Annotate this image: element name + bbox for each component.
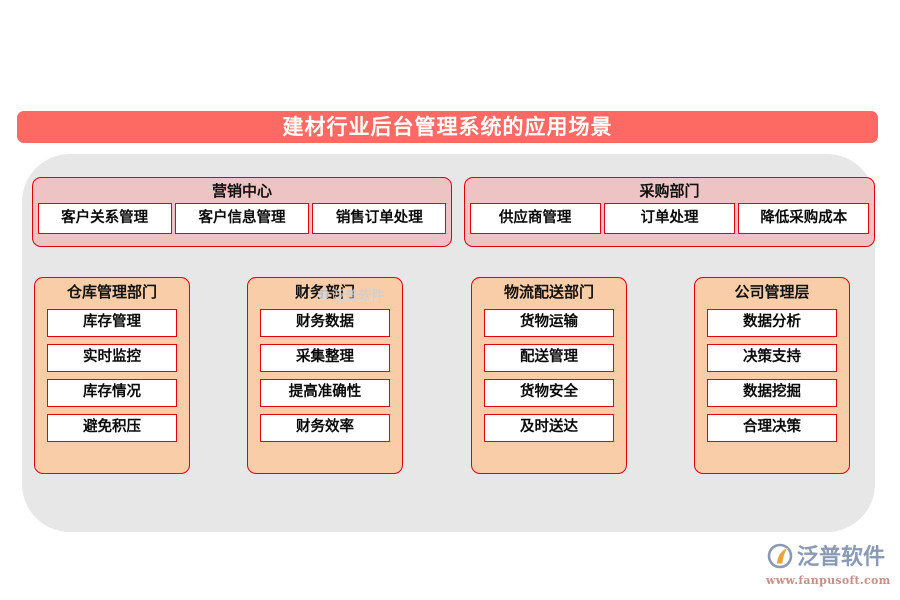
item-box[interactable]: 财务效率 (260, 414, 390, 442)
item-box[interactable]: 数据挖掘 (707, 379, 837, 407)
item-box[interactable]: 销售订单处理 (312, 203, 446, 234)
column-title-finance-department: 财务部门 (260, 282, 390, 302)
column-logistics-department: 物流配送部门 货物运输 配送管理 货物安全 及时送达 (471, 277, 627, 474)
block-marketing-center: 营销中心 客户关系管理 客户信息管理 销售订单处理 (32, 177, 452, 247)
item-box[interactable]: 采集整理 (260, 344, 390, 372)
item-box[interactable]: 客户关系管理 (38, 203, 172, 234)
item-box[interactable]: 货物安全 (484, 379, 614, 407)
column-title-logistics-department: 物流配送部门 (484, 282, 614, 302)
item-box[interactable]: 配送管理 (484, 344, 614, 372)
page-title: 建材行业后台管理系统的应用场景 (283, 117, 613, 138)
block-title-marketing-center: 营销中心 (33, 181, 451, 201)
page-title-banner: 建材行业后台管理系统的应用场景 (17, 111, 878, 143)
diagram-canvas: 建材行业后台管理系统的应用场景 营销中心 客户关系管理 客户信息管理 销售订单处… (0, 0, 900, 600)
column-title-warehouse-department: 仓库管理部门 (47, 282, 177, 302)
item-box[interactable]: 实时监控 (47, 344, 177, 372)
item-box[interactable]: 及时送达 (484, 414, 614, 442)
block-procurement-department: 采购部门 供应商管理 订单处理 降低采购成本 (464, 177, 875, 247)
item-box[interactable]: 供应商管理 (470, 203, 601, 234)
logo-row: 泛普软件 (766, 543, 892, 573)
block-items-procurement-department: 供应商管理 订单处理 降低采购成本 (465, 201, 874, 234)
item-box[interactable]: 货物运输 (484, 309, 614, 337)
item-box[interactable]: 决策支持 (707, 344, 837, 372)
fanpu-swoosh-icon (766, 543, 794, 573)
item-box[interactable]: 合理决策 (707, 414, 837, 442)
item-box[interactable]: 订单处理 (604, 203, 735, 234)
column-warehouse-department: 仓库管理部门 库存管理 实时监控 库存情况 避免积压 (34, 277, 190, 474)
logo-brand-text: 泛普软件 (797, 546, 885, 570)
item-box[interactable]: 财务数据 (260, 309, 390, 337)
column-title-company-management: 公司管理层 (707, 282, 837, 302)
item-box[interactable]: 数据分析 (707, 309, 837, 337)
item-box[interactable]: 客户信息管理 (175, 203, 309, 234)
item-box[interactable]: 避免积压 (47, 414, 177, 442)
logo-url-text: www.fanpusoft.com (766, 574, 892, 587)
block-items-marketing-center: 客户关系管理 客户信息管理 销售订单处理 (33, 201, 451, 234)
item-box[interactable]: 提高准确性 (260, 379, 390, 407)
company-logo: 泛普软件 www.fanpusoft.com (766, 543, 892, 587)
column-company-management: 公司管理层 数据分析 决策支持 数据挖掘 合理决策 (694, 277, 850, 474)
block-title-procurement-department: 采购部门 (465, 181, 874, 201)
item-box[interactable]: 库存管理 (47, 309, 177, 337)
item-box[interactable]: 降低采购成本 (738, 203, 869, 234)
column-finance-department: 财务部门 财务数据 采集整理 提高准确性 财务效率 (247, 277, 403, 474)
item-box[interactable]: 库存情况 (47, 379, 177, 407)
